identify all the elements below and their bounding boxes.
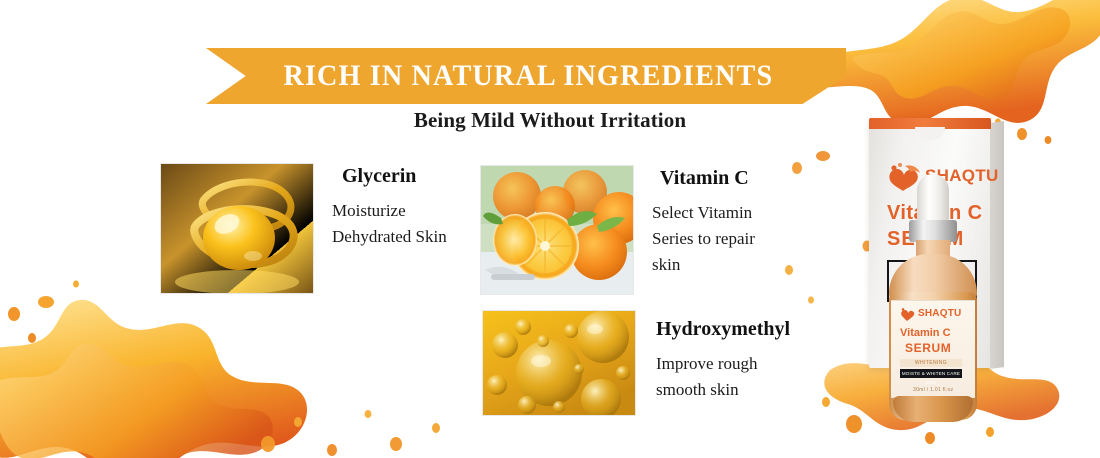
ingredient-image-glycerin [160, 163, 314, 294]
ingredient-text-vitamin-c: Vitamin C Select Vitamin Series to repai… [652, 165, 755, 278]
ingredient-description: Select Vitamin Series to repair skin [652, 200, 755, 278]
ingredient-text-glycerin: Glycerin Moisturize Dehydrated Skin [332, 163, 447, 250]
ingredient-image-vitamin-c [480, 165, 634, 295]
product-box-side-panel [990, 121, 1004, 369]
ingredient-title: Hydroxymethyl [656, 318, 790, 340]
banner-canvas: RICH IN NATURAL INGREDIENTS Being Mild W… [0, 0, 1100, 458]
desc-line: Select Vitamin [652, 200, 755, 226]
bottle-label: SHAQTU Vitamin C SERUM WHITENING MOISTE … [891, 300, 975, 398]
serum-bottle: SHAQTU Vitamin C SERUM WHITENING MOISTE … [883, 174, 983, 436]
splash-bottom-left-icon [0, 266, 310, 458]
ingredient-description: Moisturize Dehydrated Skin [332, 198, 447, 250]
desc-line: skin [652, 252, 755, 278]
splash-bottom-center-icon [240, 378, 470, 458]
ingredient-card-vitamin-c: Vitamin C Select Vitamin Series to repai… [480, 165, 755, 295]
desc-line: Dehydrated Skin [332, 224, 447, 250]
label-brand: SHAQTU [918, 308, 961, 319]
desc-line: Moisturize [332, 198, 447, 224]
ingredient-card-hydroxymethyl: Hydroxymethyl Improve rough smooth skin [482, 310, 790, 416]
bottle-base [893, 396, 973, 422]
ingredient-title: Glycerin [332, 165, 447, 187]
desc-line: smooth skin [656, 377, 790, 403]
product-box-notch [915, 127, 945, 140]
label-whitening-band: WHITENING [900, 359, 962, 367]
label-line1: Vitamin C [900, 327, 951, 339]
label-line2: SERUM [905, 341, 951, 355]
desc-line: Series to repair [652, 226, 755, 252]
ribbon-shape: RICH IN NATURAL INGREDIENTS [206, 48, 846, 104]
label-size: 30ml / 1.01 fl.oz [913, 387, 953, 393]
product-shot: SHAQTU Vitamin C SERUM SHAQTU Vitamin C … [855, 118, 1030, 438]
ingredient-text-hydroxymethyl: Hydroxymethyl Improve rough smooth skin [656, 310, 790, 403]
ingredient-description: Improve rough smooth skin [656, 351, 790, 403]
label-dark-band: MOISTE & WHITEN CARE SKIN [900, 369, 962, 378]
ribbon-banner: RICH IN NATURAL INGREDIENTS [206, 48, 846, 104]
page-title: RICH IN NATURAL INGREDIENTS [278, 59, 773, 93]
dropper-cap [917, 174, 949, 222]
label-logo-icon [899, 307, 916, 321]
ingredient-image-hydroxymethyl [482, 310, 636, 416]
dropper-collar [909, 220, 957, 242]
ingredient-title: Vitamin C [652, 167, 755, 189]
ingredient-card-glycerin: Glycerin Moisturize Dehydrated Skin [160, 163, 447, 294]
desc-line: Improve rough [656, 351, 790, 377]
